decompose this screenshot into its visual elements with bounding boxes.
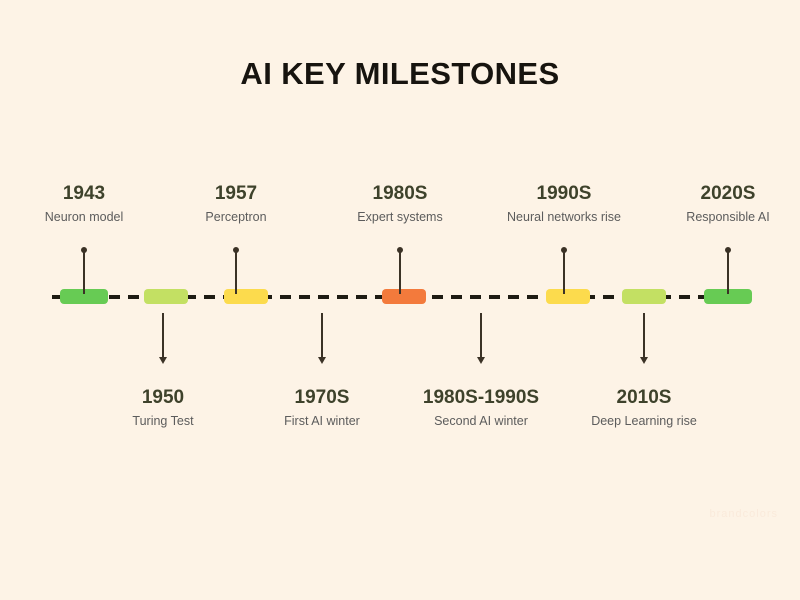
timeline-segment-7 <box>546 289 590 304</box>
timeline-segment-2 <box>144 289 188 304</box>
milestone-bottom-4: 2010SDeep Learning rise <box>494 387 794 430</box>
page-title: AI KEY MILESTONES <box>0 56 800 92</box>
arrow-down-icon <box>318 357 326 364</box>
connector-bottom-3 <box>480 313 482 358</box>
timeline-segment-8 <box>622 289 666 304</box>
timeline-segment-3 <box>224 289 268 304</box>
connector-dot-icon <box>81 247 87 253</box>
connector-top-5 <box>727 250 729 294</box>
connector-bottom-1 <box>162 313 164 358</box>
milestone-year: 2010S <box>494 387 794 409</box>
timeline-infographic: AI KEY MILESTONES 1943Neuron model1957Pe… <box>0 0 800 600</box>
timeline-segment-6 <box>462 289 506 304</box>
connector-dot-icon <box>725 247 731 253</box>
watermark: brandcolors <box>710 508 778 520</box>
connector-top-1 <box>83 250 85 294</box>
connector-dot-icon <box>561 247 567 253</box>
milestone-top-5: 2020SResponsible AI <box>598 183 800 226</box>
connector-top-4 <box>563 250 565 294</box>
milestone-year: 2020S <box>598 183 800 205</box>
connector-top-3 <box>399 250 401 294</box>
arrow-down-icon <box>477 357 485 364</box>
arrow-down-icon <box>159 357 167 364</box>
timeline-segment-4 <box>302 289 346 304</box>
arrow-down-icon <box>640 357 648 364</box>
connector-bottom-2 <box>321 313 323 358</box>
connector-dot-icon <box>233 247 239 253</box>
connector-bottom-4 <box>643 313 645 358</box>
milestone-description: Responsible AI <box>598 208 800 226</box>
timeline-segment-5 <box>382 289 426 304</box>
connector-dot-icon <box>397 247 403 253</box>
connector-top-2 <box>235 250 237 294</box>
milestone-description: Deep Learning rise <box>494 412 794 430</box>
